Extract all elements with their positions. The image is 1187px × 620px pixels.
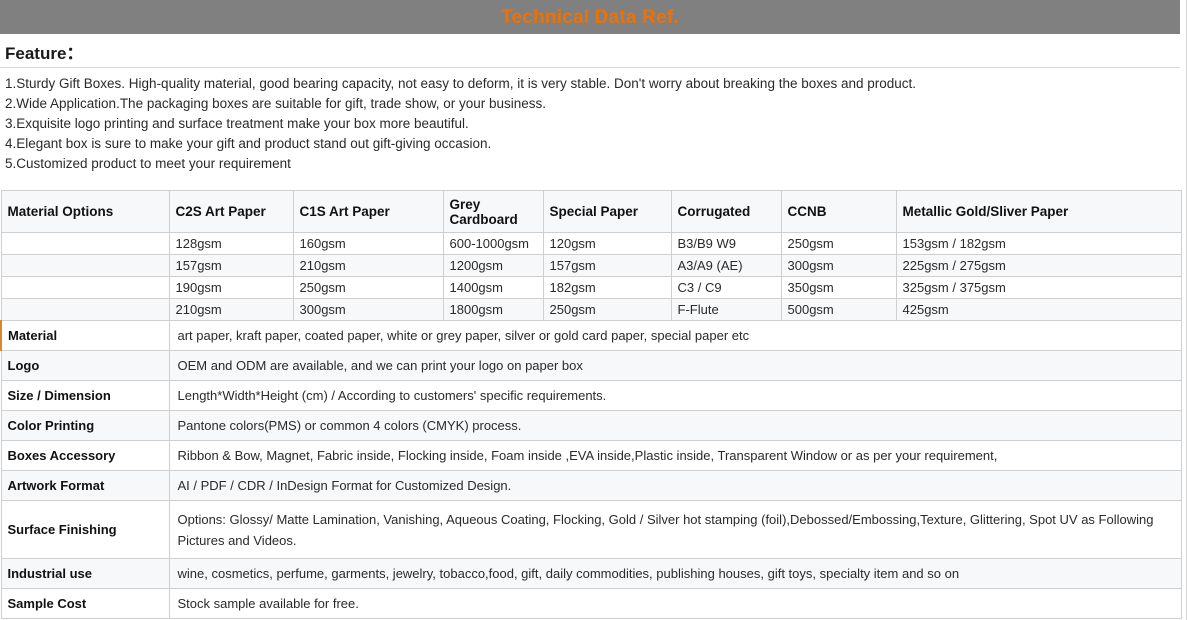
material-cell: 350gsm <box>781 277 896 299</box>
spec-row-label: Artwork Format <box>1 471 169 501</box>
spec-row-industrial-use: Industrial use wine, cosmetics, perfume,… <box>1 559 1181 589</box>
material-cell: 182gsm <box>543 277 671 299</box>
material-data-row: 190gsm 250gsm 1400gsm 182gsm C3 / C9 350… <box>1 277 1181 299</box>
feature-heading: Feature： <box>0 36 1180 68</box>
spec-row-label: Surface Finishing <box>1 501 169 559</box>
material-cell: B3/B9 W9 <box>671 233 781 255</box>
spec-row-value: OEM and ODM are available, and we can pr… <box>169 351 1181 381</box>
material-cell: A3/A9 (AE) <box>671 255 781 277</box>
material-cell: 250gsm <box>543 299 671 321</box>
feature-item: 1.Sturdy Gift Boxes. High-quality materi… <box>5 74 1180 94</box>
material-header-cell: Corrugated <box>671 191 781 233</box>
material-cell: 1800gsm <box>443 299 543 321</box>
material-row-spacer <box>1 277 169 299</box>
material-cell: 157gsm <box>169 255 293 277</box>
material-row-spacer <box>1 233 169 255</box>
material-cell: C3 / C9 <box>671 277 781 299</box>
material-cell: 325gsm / 375gsm <box>896 277 1181 299</box>
feature-item: 4.Elegant box is sure to make your gift … <box>5 134 1180 154</box>
feature-item: 3.Exquisite logo printing and surface tr… <box>5 114 1180 134</box>
spec-row-surface-finishing: Surface Finishing Options: Glossy/ Matte… <box>1 501 1181 559</box>
specification-table: Material Options C2S Art Paper C1S Art P… <box>0 190 1182 619</box>
material-cell: 157gsm <box>543 255 671 277</box>
feature-item: 2.Wide Application.The packaging boxes a… <box>5 94 1180 114</box>
material-cell: 120gsm <box>543 233 671 255</box>
material-header-cell: Grey Cardboard <box>443 191 543 233</box>
material-row-spacer <box>1 299 169 321</box>
material-cell: 190gsm <box>169 277 293 299</box>
spec-row-value: wine, cosmetics, perfume, garments, jewe… <box>169 559 1181 589</box>
material-header-cell: C2S Art Paper <box>169 191 293 233</box>
spec-row-label: Industrial use <box>1 559 169 589</box>
spec-row-artwork-format: Artwork Format AI / PDF / CDR / InDesign… <box>1 471 1181 501</box>
material-cell: 600-1000gsm <box>443 233 543 255</box>
material-cell: 210gsm <box>293 255 443 277</box>
spec-row-color-printing: Color Printing Pantone colors(PMS) or co… <box>1 411 1181 441</box>
material-header-cell: Metallic Gold/Sliver Paper <box>896 191 1181 233</box>
material-data-row: 210gsm 300gsm 1800gsm 250gsm F-Flute 500… <box>1 299 1181 321</box>
material-cell: 153gsm / 182gsm <box>896 233 1181 255</box>
spec-row-value: Options: Glossy/ Matte Lamination, Vanis… <box>169 501 1181 559</box>
material-cell: 300gsm <box>293 299 443 321</box>
material-header-cell: C1S Art Paper <box>293 191 443 233</box>
spec-row-label: Size / Dimension <box>1 381 169 411</box>
spec-row-value: art paper, kraft paper, coated paper, wh… <box>169 321 1181 351</box>
material-data-row: 128gsm 160gsm 600-1000gsm 120gsm B3/B9 W… <box>1 233 1181 255</box>
material-header-cell: CCNB <box>781 191 896 233</box>
spec-row-label: Boxes Accessory <box>1 441 169 471</box>
technical-data-sheet: Technical Data Ref. Feature： 1.Sturdy Gi… <box>0 0 1187 620</box>
material-cell: 1200gsm <box>443 255 543 277</box>
spec-row-value: Length*Width*Height (cm) / According to … <box>169 381 1181 411</box>
material-cell: 210gsm <box>169 299 293 321</box>
material-header-cell: Special Paper <box>543 191 671 233</box>
spec-row-size-dimension: Size / Dimension Length*Width*Height (cm… <box>1 381 1181 411</box>
material-header-row: Material Options C2S Art Paper C1S Art P… <box>1 191 1181 233</box>
feature-heading-label: Feature： <box>5 39 83 64</box>
feature-item: 5.Customized product to meet your requir… <box>5 154 1180 174</box>
spec-row-material: Material art paper, kraft paper, coated … <box>1 321 1181 351</box>
spec-row-label: Logo <box>1 351 169 381</box>
material-cell: 225gsm / 275gsm <box>896 255 1181 277</box>
material-cell: 250gsm <box>781 233 896 255</box>
spec-row-boxes-accessory: Boxes Accessory Ribbon & Bow, Magnet, Fa… <box>1 441 1181 471</box>
feature-list: 1.Sturdy Gift Boxes. High-quality materi… <box>0 68 1180 182</box>
title-bar: Technical Data Ref. <box>0 0 1180 36</box>
spec-row-label: Sample Cost <box>1 589 169 619</box>
spec-row-logo: Logo OEM and ODM are available, and we c… <box>1 351 1181 381</box>
spec-row-value: Stock sample available for free. <box>169 589 1181 619</box>
page-title: Technical Data Ref. <box>501 8 679 27</box>
spec-row-sample-cost: Sample Cost Stock sample available for f… <box>1 589 1181 619</box>
material-data-row: 157gsm 210gsm 1200gsm 157gsm A3/A9 (AE) … <box>1 255 1181 277</box>
material-cell: F-Flute <box>671 299 781 321</box>
spec-row-value: Ribbon & Bow, Magnet, Fabric inside, Flo… <box>169 441 1181 471</box>
material-cell: 160gsm <box>293 233 443 255</box>
material-cell: 300gsm <box>781 255 896 277</box>
material-cell: 1400gsm <box>443 277 543 299</box>
material-cell: 425gsm <box>896 299 1181 321</box>
material-header-cell: Material Options <box>1 191 169 233</box>
spec-row-value: Pantone colors(PMS) or common 4 colors (… <box>169 411 1181 441</box>
material-cell: 128gsm <box>169 233 293 255</box>
material-row-spacer <box>1 255 169 277</box>
spec-row-label: Color Printing <box>1 411 169 441</box>
material-cell: 250gsm <box>293 277 443 299</box>
material-cell: 500gsm <box>781 299 896 321</box>
spec-row-value: AI / PDF / CDR / InDesign Format for Cus… <box>169 471 1181 501</box>
spec-row-label: Material <box>1 321 169 351</box>
